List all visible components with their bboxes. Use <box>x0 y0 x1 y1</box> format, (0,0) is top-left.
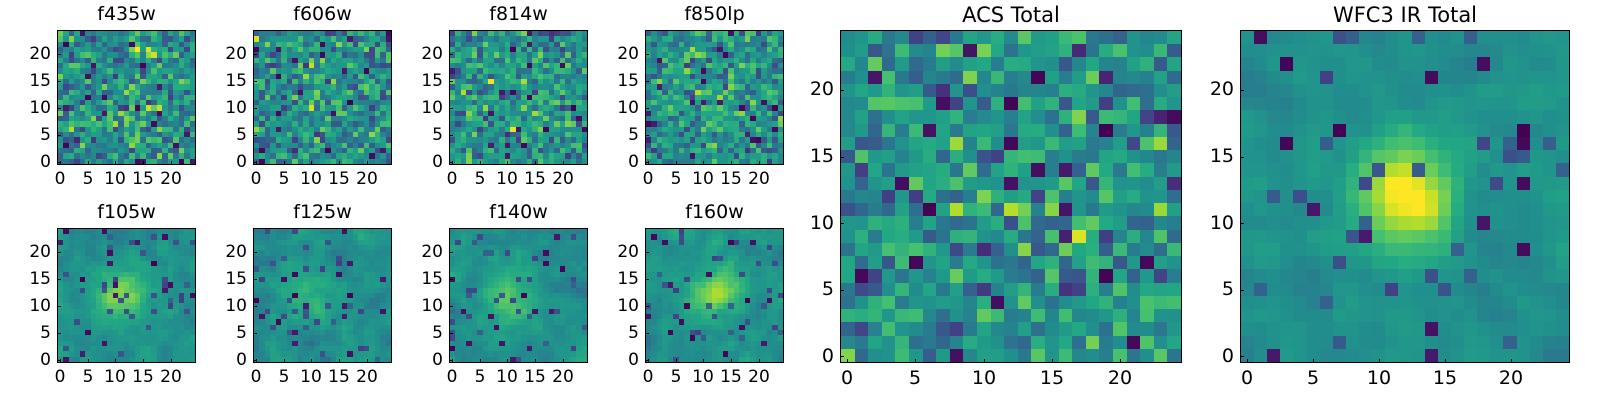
y-tick-mark <box>57 333 61 334</box>
heatmap-cell <box>477 282 482 287</box>
heatmap-cell <box>259 36 264 41</box>
heatmap-cell <box>554 105 559 110</box>
y-tick-label: 10 <box>0 100 51 117</box>
heatmap-cell <box>494 250 499 255</box>
x-tick-label: 5 <box>259 171 309 188</box>
heatmap-cell <box>124 293 129 298</box>
heatmap-cell <box>767 293 772 298</box>
heatmap-cell <box>69 58 74 63</box>
heatmap-cell <box>157 143 162 148</box>
heatmap-cell <box>168 351 173 356</box>
heatmap-cell <box>472 47 477 52</box>
heatmap-cell <box>190 293 195 298</box>
heatmap-cell <box>298 277 303 282</box>
heatmap-cell <box>107 335 112 340</box>
heatmap-cell <box>303 137 308 142</box>
heatmap-cell <box>265 153 270 158</box>
heatmap-cell <box>712 58 717 63</box>
heatmap-cell <box>380 250 385 255</box>
heatmap-cell <box>58 127 63 132</box>
heatmap-cell <box>767 266 772 271</box>
heatmap-cell <box>532 234 537 239</box>
heatmap-cell <box>543 74 548 79</box>
heatmap-cell <box>80 266 85 271</box>
heatmap-cell <box>325 240 330 245</box>
heatmap-cell <box>270 84 275 89</box>
heatmap-cell <box>756 47 761 52</box>
heatmap-cell <box>761 282 766 287</box>
heatmap-cell <box>483 159 488 164</box>
heatmap-cell <box>516 42 521 47</box>
panel-f125w: f125w0510152005101520 <box>0 0 1600 400</box>
heatmap-cell <box>102 79 107 84</box>
heatmap-cell <box>510 31 515 36</box>
heatmap-cell <box>190 266 195 271</box>
heatmap-cell <box>375 298 380 303</box>
heatmap-cell <box>521 74 526 79</box>
heatmap-cell <box>499 261 504 266</box>
heatmap-cell <box>140 42 145 47</box>
heatmap-cell <box>309 335 314 340</box>
heatmap-cell <box>778 256 783 261</box>
heatmap-cell <box>510 153 515 158</box>
heatmap-cell <box>265 74 270 79</box>
heatmap-cell <box>157 341 162 346</box>
heatmap-cell <box>353 282 358 287</box>
heatmap-cell <box>472 95 477 100</box>
heatmap-cell <box>734 293 739 298</box>
heatmap-cell <box>358 84 363 89</box>
heatmap-cell <box>767 47 772 52</box>
heatmap-cell <box>96 52 101 57</box>
heatmap-cell <box>521 277 526 282</box>
heatmap-cell <box>477 351 482 356</box>
heatmap-cell <box>270 47 275 52</box>
heatmap-cell <box>320 159 325 164</box>
heatmap-cell <box>140 74 145 79</box>
heatmap-cell <box>527 288 532 293</box>
heatmap-cell <box>455 272 460 277</box>
heatmap-cell <box>516 341 521 346</box>
heatmap-cell <box>309 330 314 335</box>
heatmap-cell <box>767 272 772 277</box>
heatmap-cell <box>347 250 352 255</box>
heatmap-cell <box>320 240 325 245</box>
heatmap-cell <box>657 105 662 110</box>
heatmap-cell <box>135 63 140 68</box>
heatmap-cell <box>113 31 118 36</box>
heatmap-cell <box>314 325 319 330</box>
heatmap-cell <box>662 309 667 314</box>
heatmap-cell <box>151 277 156 282</box>
heatmap-cell <box>527 68 532 73</box>
heatmap-cell <box>571 143 576 148</box>
heatmap-cell <box>706 116 711 121</box>
heatmap-cell <box>331 52 336 57</box>
heatmap-cell <box>375 42 380 47</box>
heatmap-cell <box>538 143 543 148</box>
heatmap-cell <box>778 36 783 41</box>
heatmap-cell <box>96 330 101 335</box>
heatmap-cell <box>309 245 314 250</box>
heatmap-cell <box>162 42 167 47</box>
heatmap-cell <box>646 111 651 116</box>
heatmap-cell <box>336 341 341 346</box>
heatmap-cell <box>184 137 189 142</box>
heatmap-cell <box>543 325 548 330</box>
heatmap-cell <box>364 68 369 73</box>
heatmap-cell <box>358 137 363 142</box>
heatmap-cell <box>679 111 684 116</box>
heatmap-cell <box>695 31 700 36</box>
heatmap-cell <box>582 132 587 137</box>
heatmap-cell <box>701 282 706 287</box>
heatmap-cell <box>168 31 173 36</box>
heatmap-cell <box>750 52 755 57</box>
heatmap-cell <box>140 58 145 63</box>
heatmap-cell <box>499 127 504 132</box>
heatmap-cell <box>761 261 766 266</box>
heatmap-cell <box>375 309 380 314</box>
y-tick-label: 5 <box>389 127 443 144</box>
heatmap-cell <box>521 36 526 41</box>
heatmap-cell <box>673 95 678 100</box>
heatmap-cell <box>113 309 118 314</box>
heatmap-cell <box>369 63 374 68</box>
heatmap-cell <box>63 256 68 261</box>
heatmap-cell <box>684 153 689 158</box>
heatmap-cell <box>358 256 363 261</box>
heatmap-cell <box>140 341 145 346</box>
heatmap-cell <box>706 137 711 142</box>
heatmap-cell <box>679 245 684 250</box>
heatmap-cell <box>179 63 184 68</box>
heatmap-cell <box>375 36 380 41</box>
heatmap-cell <box>543 351 548 356</box>
heatmap-cell <box>347 245 352 250</box>
heatmap-cell <box>549 116 554 121</box>
heatmap-cell <box>657 148 662 153</box>
heatmap-cell <box>320 245 325 250</box>
heatmap-cell <box>701 272 706 277</box>
heatmap-cell <box>701 47 706 52</box>
heatmap-cell <box>74 95 79 100</box>
y-tick-mark <box>449 252 453 253</box>
heatmap-cell <box>494 282 499 287</box>
heatmap-cell <box>276 137 281 142</box>
heatmap-cell <box>63 293 68 298</box>
heatmap-cell <box>662 137 667 142</box>
heatmap-cell <box>734 261 739 266</box>
heatmap-cell <box>287 293 292 298</box>
heatmap-cell <box>107 132 112 137</box>
heatmap-cell <box>320 319 325 324</box>
heatmap-cell <box>270 314 275 319</box>
heatmap-cell <box>113 153 118 158</box>
heatmap-cell <box>488 68 493 73</box>
heatmap-cell <box>494 288 499 293</box>
heatmap-cell <box>455 298 460 303</box>
panel-f850lp: f850lp0510152005101520 <box>0 0 1600 400</box>
heatmap-cell <box>571 272 576 277</box>
heatmap-cell <box>450 357 455 362</box>
heatmap-cell <box>303 293 308 298</box>
heatmap-cell <box>276 74 281 79</box>
heatmap-cell <box>380 63 385 68</box>
heatmap-cell <box>510 240 515 245</box>
heatmap-cell <box>734 309 739 314</box>
heatmap-cell <box>538 132 543 137</box>
heatmap-cell <box>772 31 777 36</box>
heatmap-cell <box>265 357 270 362</box>
heatmap-cell <box>320 52 325 57</box>
heatmap-cell <box>483 116 488 121</box>
heatmap-cell <box>505 148 510 153</box>
heatmap-cell <box>358 298 363 303</box>
heatmap-cell <box>472 341 477 346</box>
heatmap-cell <box>662 79 667 84</box>
heatmap-cell <box>281 132 286 137</box>
heatmap-cell <box>124 341 129 346</box>
heatmap-cell <box>281 111 286 116</box>
heatmap-cell <box>560 58 565 63</box>
heatmap-cell <box>74 303 79 308</box>
heatmap-cell <box>549 293 554 298</box>
heatmap-cell <box>140 84 145 89</box>
heatmap-cell <box>461 127 466 132</box>
heatmap-cell <box>265 42 270 47</box>
heatmap-cell <box>314 132 319 137</box>
heatmap-cell <box>146 341 151 346</box>
heatmap-cell <box>336 95 341 100</box>
heatmap-cell <box>560 132 565 137</box>
heatmap-cell <box>560 84 565 89</box>
heatmap-cell <box>168 52 173 57</box>
heatmap-cell <box>386 95 391 100</box>
heatmap-cell <box>554 319 559 324</box>
heatmap-cell <box>466 36 471 41</box>
heatmap-cell <box>494 36 499 41</box>
heatmap-cell <box>162 341 167 346</box>
heatmap-cell <box>91 42 96 47</box>
heatmap-cell <box>538 100 543 105</box>
heatmap-cell <box>488 272 493 277</box>
heatmap-cell <box>516 288 521 293</box>
heatmap-cell <box>331 116 336 121</box>
heatmap-cell <box>287 52 292 57</box>
heatmap-cell <box>477 314 482 319</box>
heatmap-cell <box>281 68 286 73</box>
heatmap-cell <box>450 256 455 261</box>
heatmap-cell <box>276 266 281 271</box>
heatmap-cell <box>657 143 662 148</box>
x-tick-mark <box>367 161 368 165</box>
heatmap-cell <box>85 341 90 346</box>
heatmap-cell <box>63 127 68 132</box>
heatmap-cell <box>532 240 537 245</box>
heatmap-cell <box>63 277 68 282</box>
heatmap-cell <box>668 111 673 116</box>
heatmap-cell <box>756 272 761 277</box>
heatmap-cell <box>380 234 385 239</box>
heatmap-cell <box>472 42 477 47</box>
heatmap-cell <box>571 90 576 95</box>
heatmap-cell <box>336 293 341 298</box>
heatmap-cell <box>168 330 173 335</box>
heatmap-cell <box>461 234 466 239</box>
heatmap-cell <box>543 31 548 36</box>
heatmap-cell <box>380 282 385 287</box>
heatmap-cell <box>342 58 347 63</box>
heatmap-cell <box>554 95 559 100</box>
heatmap-cell <box>461 229 466 234</box>
heatmap-cell <box>129 282 134 287</box>
heatmap-cell <box>745 100 750 105</box>
heatmap-cell <box>657 137 662 142</box>
heatmap-cell <box>386 256 391 261</box>
heatmap-cell <box>124 277 129 282</box>
heatmap-cell <box>303 309 308 314</box>
heatmap-cell <box>74 330 79 335</box>
heatmap-cell <box>494 31 499 36</box>
heatmap-cell <box>717 31 722 36</box>
heatmap-cell <box>521 288 526 293</box>
heatmap-cell <box>353 95 358 100</box>
heatmap-cell <box>270 74 275 79</box>
heatmap-cell <box>662 256 667 261</box>
heatmap-cell <box>80 293 85 298</box>
heatmap-cell <box>543 229 548 234</box>
heatmap-cell <box>151 36 156 41</box>
heatmap-cell <box>450 79 455 84</box>
heatmap-cell <box>767 121 772 126</box>
heatmap-cell <box>717 100 722 105</box>
heatmap-cell <box>314 309 319 314</box>
heatmap-cell <box>353 36 358 41</box>
heatmap-cell <box>63 314 68 319</box>
heatmap-cell <box>276 272 281 277</box>
heatmap-cell <box>287 266 292 271</box>
heatmap-cell <box>767 42 772 47</box>
heatmap-cell <box>342 63 347 68</box>
heatmap-cell <box>651 240 656 245</box>
heatmap-cell <box>375 74 380 79</box>
heatmap-cell <box>276 36 281 41</box>
y-tick-mark <box>253 135 257 136</box>
y-tick-label: 20 <box>0 46 51 63</box>
heatmap-cell <box>63 319 68 324</box>
heatmap-cell <box>140 266 145 271</box>
heatmap-cell <box>695 90 700 95</box>
heatmap-cell <box>532 335 537 340</box>
heatmap-cell <box>336 74 341 79</box>
heatmap-cell <box>168 143 173 148</box>
heatmap-cell <box>717 63 722 68</box>
heatmap-cell <box>292 314 297 319</box>
heatmap-cell <box>314 116 319 121</box>
heatmap-cell <box>129 266 134 271</box>
heatmap-cell <box>527 63 532 68</box>
heatmap-cell <box>532 357 537 362</box>
heatmap-cell <box>527 36 532 41</box>
heatmap-cell <box>168 159 173 164</box>
heatmap-cell <box>477 335 482 340</box>
heatmap-cell <box>466 261 471 266</box>
heatmap-cell <box>386 74 391 79</box>
heatmap-cell <box>342 335 347 340</box>
heatmap-cell <box>668 100 673 105</box>
heatmap-cell <box>358 314 363 319</box>
heatmap-cell <box>499 31 504 36</box>
heatmap-cell <box>662 266 667 271</box>
heatmap-cell <box>369 52 374 57</box>
heatmap-cell <box>113 143 118 148</box>
heatmap-cell <box>331 132 336 137</box>
heatmap-cell <box>455 330 460 335</box>
heatmap-cell <box>651 36 656 41</box>
heatmap-cell <box>455 95 460 100</box>
heatmap-cell <box>107 303 112 308</box>
heatmap-cell <box>571 121 576 126</box>
heatmap-cell <box>151 68 156 73</box>
heatmap-cell <box>778 79 783 84</box>
y-tick-label: 20 <box>389 244 443 261</box>
heatmap-cell <box>679 132 684 137</box>
heatmap-cell <box>287 84 292 89</box>
heatmap-cell <box>124 330 129 335</box>
heatmap-cell <box>179 47 184 52</box>
heatmap-cell <box>190 137 195 142</box>
heatmap-cell <box>107 282 112 287</box>
heatmap-cell <box>96 346 101 351</box>
heatmap-cell <box>651 58 656 63</box>
heatmap-cell <box>287 314 292 319</box>
heatmap-cell <box>69 229 74 234</box>
heatmap-cell <box>331 137 336 142</box>
heatmap-cell <box>756 74 761 79</box>
heatmap-cell <box>102 63 107 68</box>
heatmap-cell <box>320 132 325 137</box>
heatmap-cell <box>772 234 777 239</box>
heatmap-cell <box>477 116 482 121</box>
heatmap-cell <box>157 127 162 132</box>
heatmap-cell <box>129 79 134 84</box>
heatmap-cell <box>756 309 761 314</box>
heatmap-cell <box>734 68 739 73</box>
heatmap-cell <box>662 116 667 121</box>
heatmap-cell <box>527 148 532 153</box>
heatmap-cell <box>723 63 728 68</box>
heatmap-cell <box>554 357 559 362</box>
heatmap-cell <box>684 47 689 52</box>
heatmap-cell <box>118 74 123 79</box>
x-tick-mark <box>648 161 649 165</box>
heatmap-cell <box>314 159 319 164</box>
heatmap-cell <box>673 240 678 245</box>
heatmap-cell <box>69 105 74 110</box>
heatmap-cell <box>772 240 777 245</box>
heatmap-cell <box>118 314 123 319</box>
heatmap-cell <box>375 234 380 239</box>
heatmap-cell <box>63 153 68 158</box>
heatmap-cell <box>728 68 733 73</box>
heatmap-cell <box>314 261 319 266</box>
heatmap-cell <box>646 31 651 36</box>
heatmap-cell <box>565 330 570 335</box>
heatmap-cell <box>190 79 195 84</box>
heatmap-cell <box>679 100 684 105</box>
heatmap-cell <box>303 319 308 324</box>
